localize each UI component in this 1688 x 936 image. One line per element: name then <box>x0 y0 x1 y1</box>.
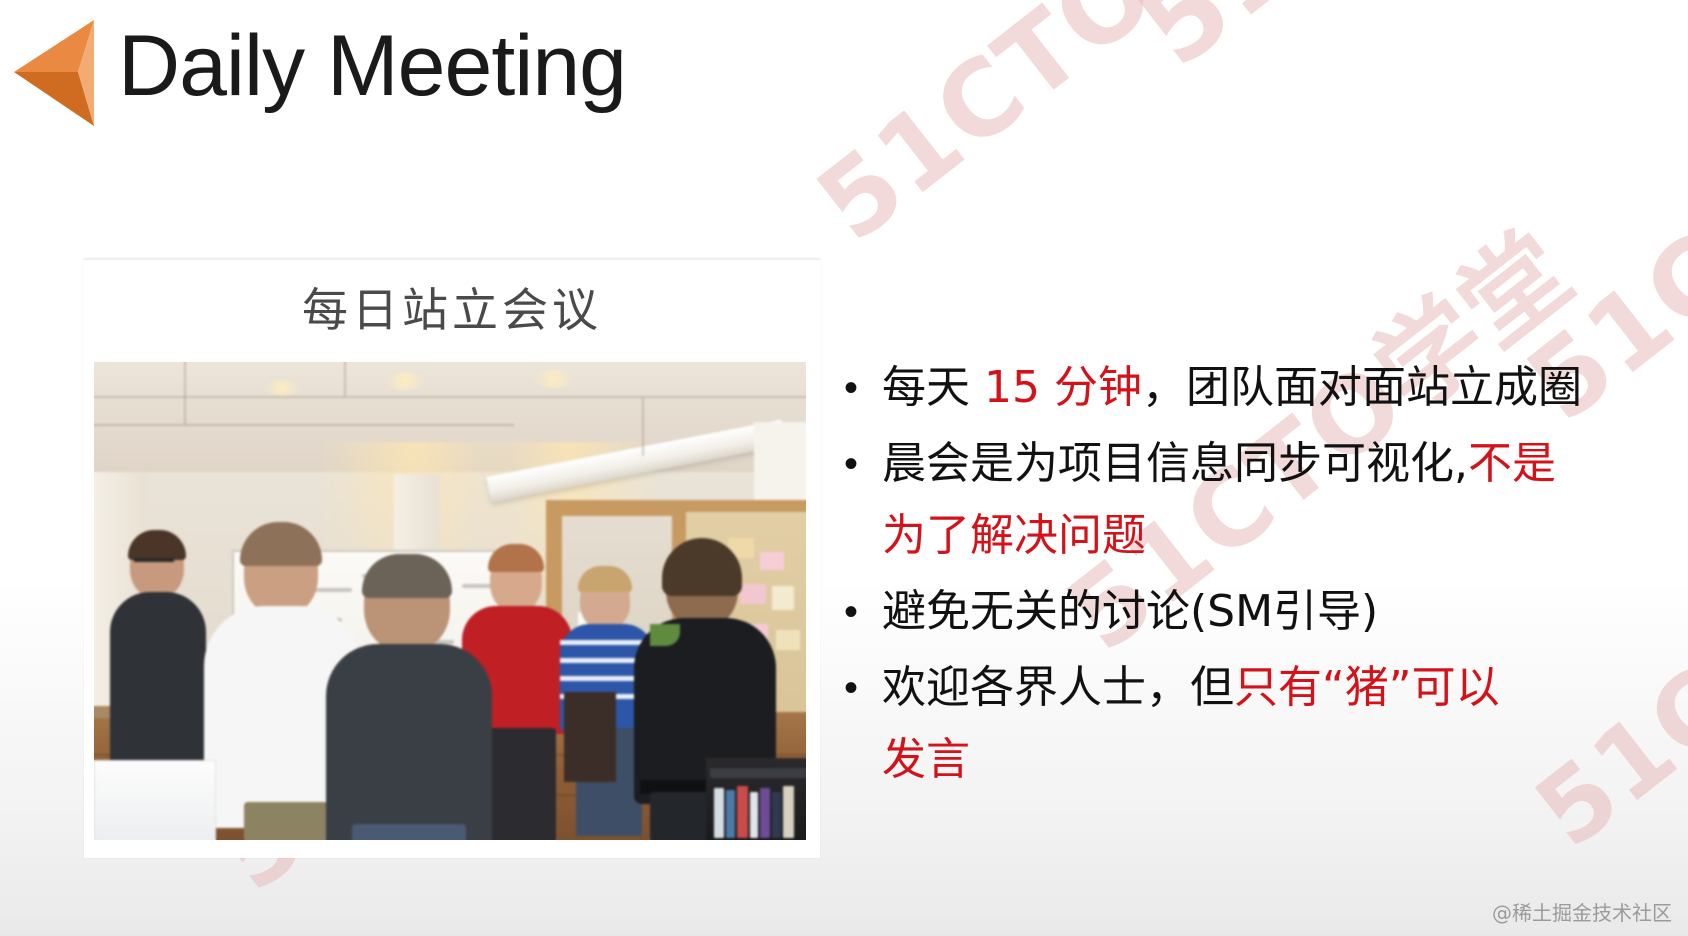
bullet-item: •晨会是为项目信息同步可视化,不是为了解决问题 <box>836 428 1672 572</box>
bullet-text: 晨会是为项目信息同步可视化,不是为了解决问题 <box>882 428 1672 572</box>
bullet-plain-text: 避免无关的讨论(SM引导) <box>882 586 1378 637</box>
bullet-text: 避免无关的讨论(SM引导) <box>882 576 1672 648</box>
slide-canvas: 51CTO学堂51CTO学堂51CTO学堂51CTO学堂51CTO学堂51CTO… <box>0 0 1688 936</box>
photo-blur-overlay <box>94 362 806 840</box>
bullet-plain-text: 晨会是为项目信息同步可视化, <box>882 438 1468 489</box>
bullet-list: •每天 15 分钟，团队面对面站立成圈•晨会是为项目信息同步可视化,不是为了解决… <box>836 352 1672 800</box>
bullet-item: •欢迎各界人士，但只有“猪”可以发言 <box>836 652 1672 796</box>
bullet-plain-text: ，团队面对面站立成圈 <box>1142 362 1582 413</box>
credit-watermark: @稀土掘金技术社区 <box>1492 900 1672 926</box>
bullet-item: •每天 15 分钟，团队面对面站立成圈 <box>836 352 1672 424</box>
bullet-marker-icon: • <box>836 652 882 724</box>
slide-header: Daily Meeting <box>0 0 1688 140</box>
bullet-emphasis-text: 只有“猪”可以 <box>1234 662 1500 713</box>
bullet-marker-icon: • <box>836 428 882 500</box>
bullet-text: 每天 15 分钟，团队面对面站立成圈 <box>882 352 1672 424</box>
team-standup-meeting-photo <box>94 362 806 840</box>
bullet-text: 欢迎各界人士，但只有“猪”可以发言 <box>882 652 1672 796</box>
bullet-marker-icon: • <box>836 352 882 424</box>
bullet-line: 欢迎各界人士，但只有“猪”可以 <box>882 652 1672 724</box>
bullet-emphasis-text: 发言 <box>882 734 970 785</box>
card-top-divider <box>84 258 820 260</box>
bullet-line: 发言 <box>882 724 1672 796</box>
bullet-line: 为了解决问题 <box>882 500 1672 572</box>
triangle-play-logo-icon <box>6 14 110 132</box>
bullet-emphasis-text: 15 分钟 <box>984 362 1142 413</box>
bullet-emphasis-text: 不是 <box>1468 438 1556 489</box>
bullet-marker-icon: • <box>836 576 882 648</box>
bullet-line: 晨会是为项目信息同步可视化,不是 <box>882 428 1672 500</box>
bullet-line: 避免无关的讨论(SM引导) <box>882 576 1672 648</box>
bullet-plain-text: 每天 <box>882 362 984 413</box>
bullet-plain-text: 欢迎各界人士，但 <box>882 662 1234 713</box>
bullet-line: 每天 15 分钟，团队面对面站立成圈 <box>882 352 1672 424</box>
photo-card: 每日站立会议 <box>84 258 820 858</box>
bullet-item: •避免无关的讨论(SM引导) <box>836 576 1672 648</box>
photo-caption: 每日站立会议 <box>84 280 820 342</box>
page-title: Daily Meeting <box>118 14 626 118</box>
bullet-emphasis-text: 为了解决问题 <box>882 510 1146 561</box>
